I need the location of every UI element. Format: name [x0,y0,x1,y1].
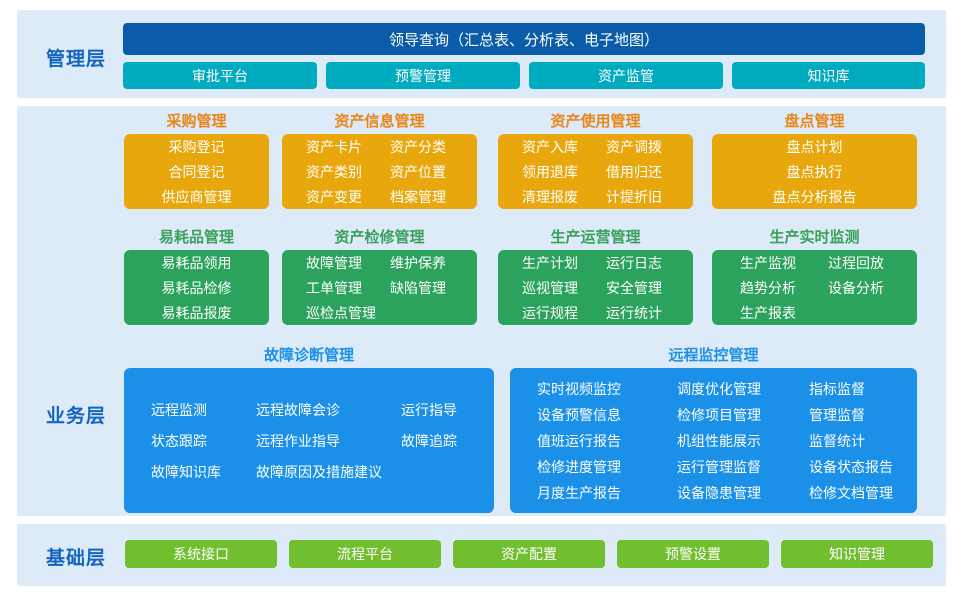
group-item-row: 检修进度管理 运行管理监督 设备状态报告 [537,454,917,480]
base-item-system-interface[interactable]: 系统接口 [125,540,277,568]
management-item-knowledge-base[interactable]: 知识库 [732,62,925,89]
management-layer: 管理层 领导查询（汇总表、分析表、电子地图） 审批平台 预警管理 资产监管 知识… [17,10,946,98]
group-item-row: 资产入库 资产调拨 [522,134,693,159]
group-item-row: 值班运行报告 机组性能展示 监督统计 [537,428,917,454]
architecture-diagram: 管理层 领导查询（汇总表、分析表、电子地图） 审批平台 预警管理 资产监管 知识… [0,0,963,597]
base-item-asset-configuration[interactable]: 资产配置 [453,540,605,568]
management-item-asset-supervision[interactable]: 资产监管 [529,62,723,89]
group-item[interactable]: 盘点分析报告 [712,187,917,207]
group-item[interactable]: 实时视频监控 [537,379,677,399]
group-title: 资产信息管理 [282,112,477,130]
group-item-row: 运行规程 运行统计 [522,300,693,325]
group-item[interactable]: 工单管理 [306,278,390,298]
group-box[interactable]: 生产计划 运行日志 巡视管理 安全管理 运行规程 运行统计 [498,250,693,325]
group-item-row: 工单管理 缺陷管理 [306,275,477,300]
group-item[interactable]: 生产监视 [740,253,828,273]
base-layer: 基础层 系统接口 流程平台 资产配置 预警设置 知识管理 [17,524,946,586]
group-fault-diagnosis-management: 故障诊断管理 远程监测 远程故障会诊 运行指导 状态跟踪 远程作业指导 故障追踪… [124,346,494,513]
group-item[interactable]: 计提折旧 [606,187,690,207]
group-item[interactable]: 故障原因及措施建议 [256,462,491,482]
group-item[interactable]: 状态跟踪 [151,431,256,451]
group-item-row: 易耗品报废 [124,300,269,325]
group-item-grid: 生产监视 过程回放 趋势分析 设备分析 生产报表 [712,250,917,325]
group-item[interactable]: 管理监督 [809,405,914,425]
group-item-row: 盘点执行 [712,159,917,184]
group-item[interactable]: 借用归还 [606,162,690,182]
group-box[interactable]: 生产监视 过程回放 趋势分析 设备分析 生产报表 [712,250,917,325]
group-item[interactable]: 供应商管理 [124,187,269,207]
group-item-row: 实时视频监控 调度优化管理 指标监督 [537,376,917,402]
group-item-row: 生产监视 过程回放 [740,250,917,275]
group-item[interactable]: 远程故障会诊 [256,400,401,420]
group-item-row: 月度生产报告 设备隐患管理 检修文档管理 [537,480,917,506]
group-item[interactable]: 值班运行报告 [537,431,677,451]
group-item[interactable]: 资产变更 [306,187,390,207]
group-title: 故障诊断管理 [124,346,494,364]
group-item[interactable]: 故障知识库 [151,462,256,482]
group-purchase-management: 采购管理 采购登记 合同登记 供应商管理 [124,112,269,209]
group-consumable-management: 易耗品管理 易耗品领用 易耗品检修 易耗品报废 [124,228,269,325]
business-layer: 业务层 采购管理 采购登记 合同登记 供应商管理 资产信息管理 [17,106,946,516]
group-item[interactable]: 资产位置 [390,162,474,182]
group-item-row: 盘点计划 [712,134,917,159]
group-item-grid: 生产计划 运行日志 巡视管理 安全管理 运行规程 运行统计 [498,250,693,325]
group-item-row: 易耗品检修 [124,275,269,300]
group-item-grid: 易耗品领用 易耗品检修 易耗品报废 [124,250,269,325]
group-item[interactable]: 巡视管理 [522,278,606,298]
group-item-row: 资产类别 资产位置 [306,159,477,184]
group-item-row: 设备预警信息 检修项目管理 管理监督 [537,402,917,428]
management-layer-label: 管理层 [17,44,135,71]
group-item-row: 合同登记 [124,159,269,184]
business-layer-label: 业务层 [17,401,135,428]
group-item[interactable]: 远程监测 [151,400,256,420]
group-item[interactable]: 采购登记 [124,137,269,157]
group-item[interactable]: 易耗品报废 [124,303,269,323]
group-item-row: 资产变更 档案管理 [306,184,477,209]
group-remote-monitoring-management: 远程监控管理 实时视频监控 调度优化管理 指标监督 设备预警信息 检修项目管理 … [510,346,917,513]
group-box[interactable]: 资产卡片 资产分类 资产类别 资产位置 资产变更 档案管理 [282,134,477,209]
group-item[interactable]: 生产报表 [740,303,916,323]
group-item[interactable]: 检修文档管理 [809,483,914,503]
group-title: 采购管理 [124,112,269,130]
group-item[interactable]: 盘点执行 [712,162,917,182]
group-box[interactable]: 资产入库 资产调拨 领用退库 借用归还 清理报废 计提折旧 [498,134,693,209]
group-item[interactable]: 检修进度管理 [537,457,677,477]
group-item-grid: 资产卡片 资产分类 资产类别 资产位置 资产变更 档案管理 [282,134,477,209]
group-item[interactable]: 资产类别 [306,162,390,182]
group-item[interactable]: 维护保养 [390,253,474,273]
group-asset-maintenance-management: 资产检修管理 故障管理 维护保养 工单管理 缺陷管理 巡检点管理 [282,228,477,325]
group-item[interactable]: 趋势分析 [740,278,828,298]
group-item-row: 故障知识库 故障原因及措施建议 [151,456,494,487]
group-item[interactable]: 资产入库 [522,137,606,157]
group-item[interactable]: 易耗品检修 [124,278,269,298]
group-item-row: 清理报废 计提折旧 [522,184,693,209]
group-item-row: 领用退库 借用归还 [522,159,693,184]
group-item-row: 资产卡片 资产分类 [306,134,477,159]
group-title: 生产运营管理 [498,228,693,246]
group-item[interactable]: 盘点计划 [712,137,917,157]
group-item[interactable]: 资产调拨 [606,137,690,157]
group-box[interactable]: 盘点计划 盘点执行 盘点分析报告 [712,134,917,209]
group-item[interactable]: 指标监督 [809,379,914,399]
group-item[interactable]: 巡检点管理 [306,303,474,323]
group-item[interactable]: 运行管理监督 [677,457,809,477]
group-item[interactable]: 机组性能展示 [677,431,809,451]
base-item-process-platform[interactable]: 流程平台 [289,540,441,568]
group-item-row: 趋势分析 设备分析 [740,275,917,300]
group-title: 生产实时监测 [712,228,917,246]
base-item-knowledge-management[interactable]: 知识管理 [781,540,933,568]
group-item-row: 生产报表 [740,300,917,325]
group-asset-usage-management: 资产使用管理 资产入库 资产调拨 领用退库 借用归还 清理报废 计提折旧 [498,112,693,209]
management-item-approval-platform[interactable]: 审批平台 [123,62,317,89]
group-item[interactable]: 生产计划 [522,253,606,273]
group-item[interactable]: 设备状态报告 [809,457,914,477]
group-item[interactable]: 档案管理 [390,187,474,207]
group-box[interactable]: 采购登记 合同登记 供应商管理 [124,134,269,209]
group-item-row: 巡视管理 安全管理 [522,275,693,300]
group-item-grid: 资产入库 资产调拨 领用退库 借用归还 清理报废 计提折旧 [498,134,693,209]
group-asset-info-management: 资产信息管理 资产卡片 资产分类 资产类别 资产位置 资产变更 档案管理 [282,112,477,209]
group-item-row: 生产计划 运行日志 [522,250,693,275]
group-item-row: 盘点分析报告 [712,184,917,209]
management-item-warning-management[interactable]: 预警管理 [326,62,520,89]
group-item[interactable]: 故障追踪 [401,431,491,451]
group-item[interactable]: 易耗品领用 [124,253,269,273]
group-item-row: 远程监测 远程故障会诊 运行指导 [151,394,494,425]
group-item[interactable]: 设备预警信息 [537,405,677,425]
group-item[interactable]: 领用退库 [522,162,606,182]
group-item[interactable]: 远程作业指导 [256,431,401,451]
group-item[interactable]: 调度优化管理 [677,379,809,399]
group-item-grid: 盘点计划 盘点执行 盘点分析报告 [712,134,917,209]
group-box[interactable]: 易耗品领用 易耗品检修 易耗品报废 [124,250,269,325]
group-item[interactable]: 安全管理 [606,278,690,298]
group-item[interactable]: 合同登记 [124,162,269,182]
group-title: 资产使用管理 [498,112,693,130]
group-box[interactable]: 实时视频监控 调度优化管理 指标监督 设备预警信息 检修项目管理 管理监督 值班… [510,368,917,513]
group-item-row: 故障管理 维护保养 [306,250,477,275]
group-item[interactable]: 故障管理 [306,253,390,273]
group-item[interactable]: 缺陷管理 [390,278,474,298]
group-item[interactable]: 运行日志 [606,253,690,273]
group-item[interactable]: 设备分析 [828,278,916,298]
group-item-grid: 采购登记 合同登记 供应商管理 [124,134,269,209]
group-item-grid: 远程监测 远程故障会诊 运行指导 状态跟踪 远程作业指导 故障追踪 故障知识库 … [124,394,494,487]
group-item[interactable]: 月度生产报告 [537,483,677,503]
group-item[interactable]: 监督统计 [809,431,914,451]
group-title: 易耗品管理 [124,228,269,246]
group-item-row: 供应商管理 [124,184,269,209]
group-production-operation-management: 生产运营管理 生产计划 运行日志 巡视管理 安全管理 运行规程 运行统计 [498,228,693,325]
base-item-warning-settings[interactable]: 预警设置 [617,540,769,568]
group-item-row: 易耗品领用 [124,250,269,275]
group-production-realtime-monitoring: 生产实时监测 生产监视 过程回放 趋势分析 设备分析 生产报表 [712,228,917,325]
group-title: 远程监控管理 [510,346,917,364]
group-item-grid: 实时视频监控 调度优化管理 指标监督 设备预警信息 检修项目管理 管理监督 值班… [510,376,917,506]
group-item[interactable]: 运行规程 [522,303,606,323]
group-item[interactable]: 设备隐患管理 [677,483,809,503]
group-item-row: 采购登记 [124,134,269,159]
group-box[interactable]: 远程监测 远程故障会诊 运行指导 状态跟踪 远程作业指导 故障追踪 故障知识库 … [124,368,494,513]
group-item[interactable]: 过程回放 [828,253,916,273]
group-item[interactable]: 运行统计 [606,303,690,323]
group-item[interactable]: 运行指导 [401,400,491,420]
group-inventory-management: 盘点管理 盘点计划 盘点执行 盘点分析报告 [712,112,917,209]
group-title: 资产检修管理 [282,228,477,246]
group-item-row: 状态跟踪 远程作业指导 故障追踪 [151,425,494,456]
group-item[interactable]: 检修项目管理 [677,405,809,425]
group-title: 盘点管理 [712,112,917,130]
group-item[interactable]: 资产卡片 [306,137,390,157]
base-layer-label: 基础层 [17,543,135,570]
leader-query-banner[interactable]: 领导查询（汇总表、分析表、电子地图） [123,23,925,55]
group-item-grid: 故障管理 维护保养 工单管理 缺陷管理 巡检点管理 [282,250,477,325]
group-item-row: 巡检点管理 [306,300,477,325]
group-item[interactable]: 清理报废 [522,187,606,207]
group-item[interactable]: 资产分类 [390,137,474,157]
group-box[interactable]: 故障管理 维护保养 工单管理 缺陷管理 巡检点管理 [282,250,477,325]
